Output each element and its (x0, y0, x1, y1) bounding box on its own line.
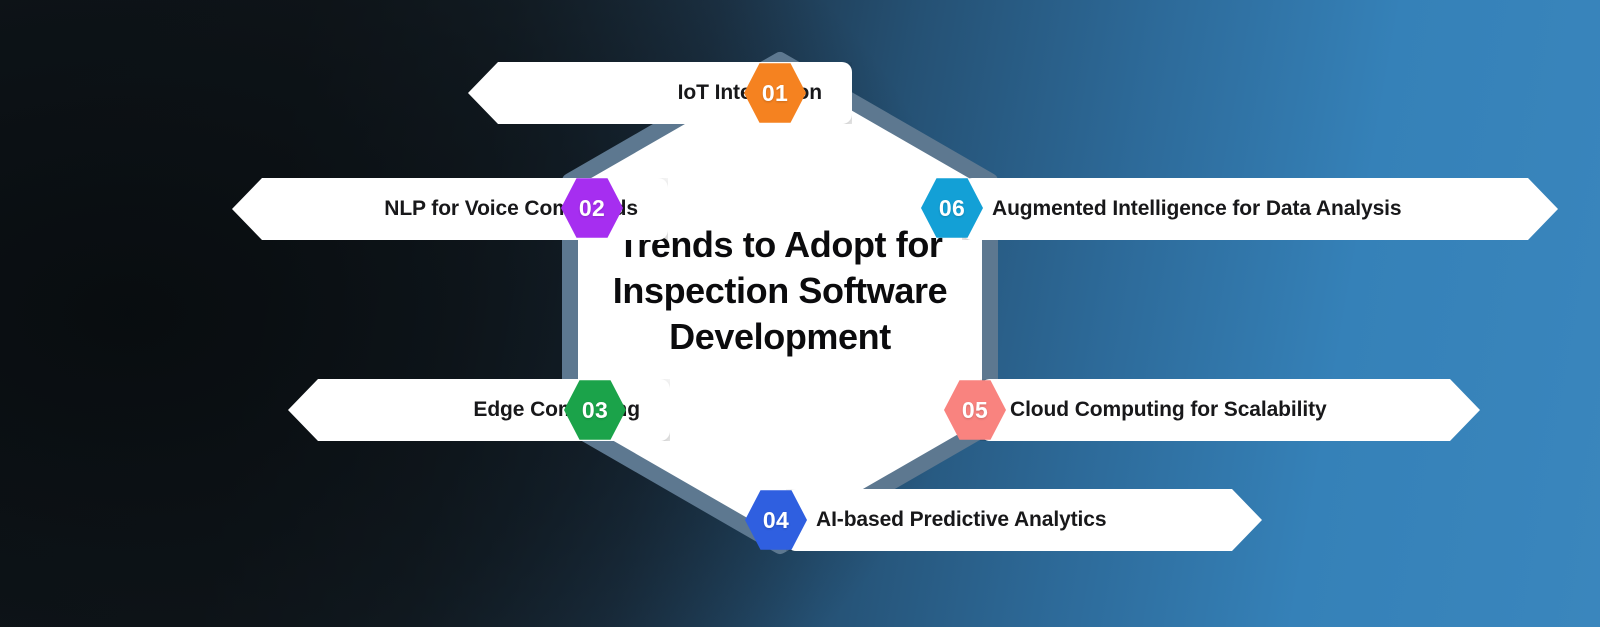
item-number-03: 03 (582, 397, 608, 424)
item-number-02: 02 (579, 195, 605, 222)
item-label-06: Augmented Intelligence for Data Analysis (992, 197, 1401, 221)
center-title: Trends to Adopt for Inspection Software … (600, 222, 960, 360)
item-label-04: AI-based Predictive Analytics (816, 508, 1106, 532)
item-label-05: Cloud Computing for Scalability (1010, 398, 1327, 422)
item-number-04: 04 (763, 507, 789, 534)
infographic-canvas: Trends to Adopt for Inspection Software … (0, 0, 1600, 627)
item-pill-05[interactable]: Cloud Computing for Scalability (980, 379, 1480, 441)
item-pill-04[interactable]: AI-based Predictive Analytics (786, 489, 1262, 551)
item-number-01: 01 (762, 80, 788, 107)
item-pill-06[interactable]: Augmented Intelligence for Data Analysis (962, 178, 1558, 240)
item-number-05: 05 (962, 397, 988, 424)
item-number-06: 06 (939, 195, 965, 222)
